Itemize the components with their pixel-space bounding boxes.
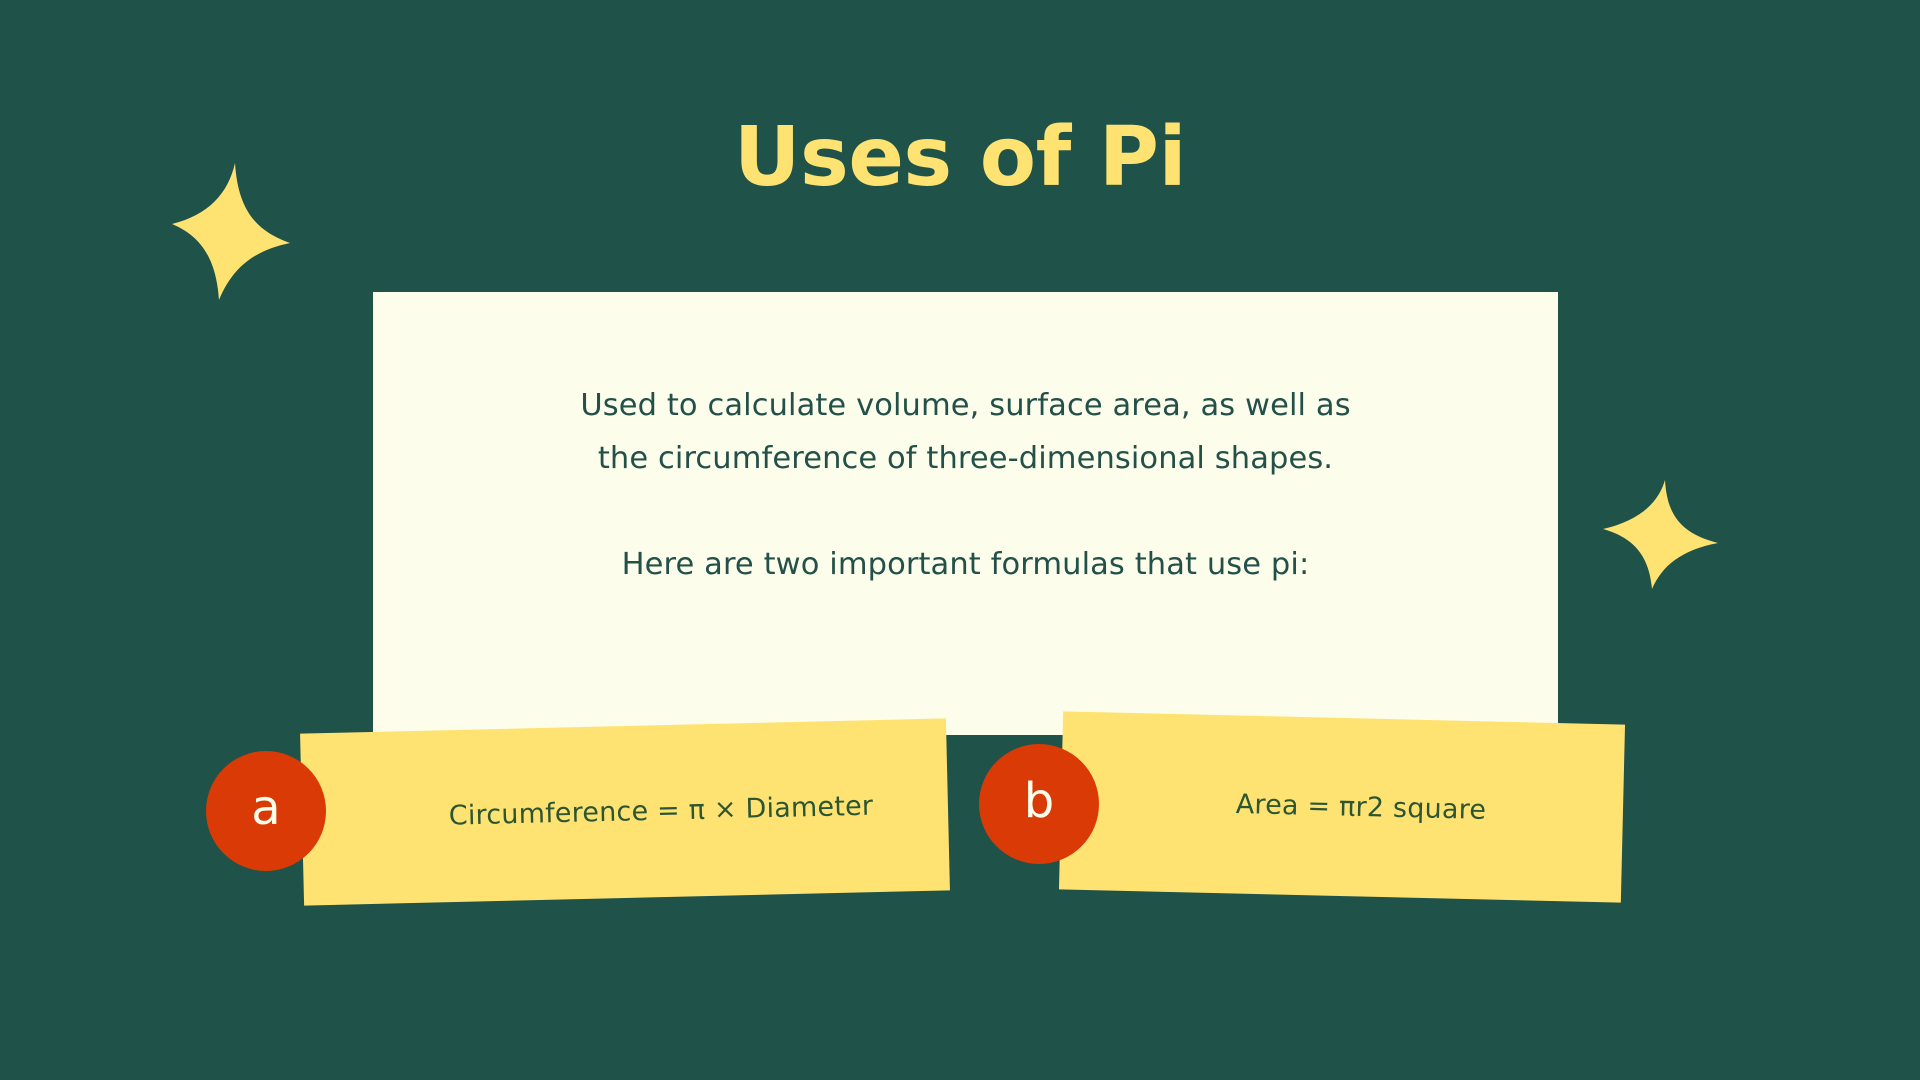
page-title: Uses of Pi: [0, 117, 1920, 199]
formula-text-b: Area = πr2 square: [1061, 785, 1624, 829]
content-card-body: Used to calculate volume, surface area, …: [373, 379, 1558, 591]
slide-canvas: Uses of Pi Used to calculate volume, sur…: [0, 0, 1920, 1080]
formula-badge-a: a: [206, 751, 326, 871]
formula-badge-b: b: [979, 744, 1099, 864]
body-line-3: Here are two important formulas that use…: [373, 538, 1558, 591]
formula-card-a[interactable]: Circumference = π × Diameter: [300, 718, 950, 905]
body-line-1: Used to calculate volume, surface area, …: [373, 379, 1558, 432]
paragraph-spacer: [373, 485, 1558, 538]
body-line-2: the circumference of three-dimensional s…: [373, 432, 1558, 485]
formula-card-b[interactable]: Area = πr2 square: [1059, 711, 1625, 902]
content-card: Used to calculate volume, surface area, …: [373, 292, 1558, 735]
sparkle-icon: [1603, 480, 1718, 589]
formula-text-a: Circumference = π × Diameter: [302, 789, 949, 835]
